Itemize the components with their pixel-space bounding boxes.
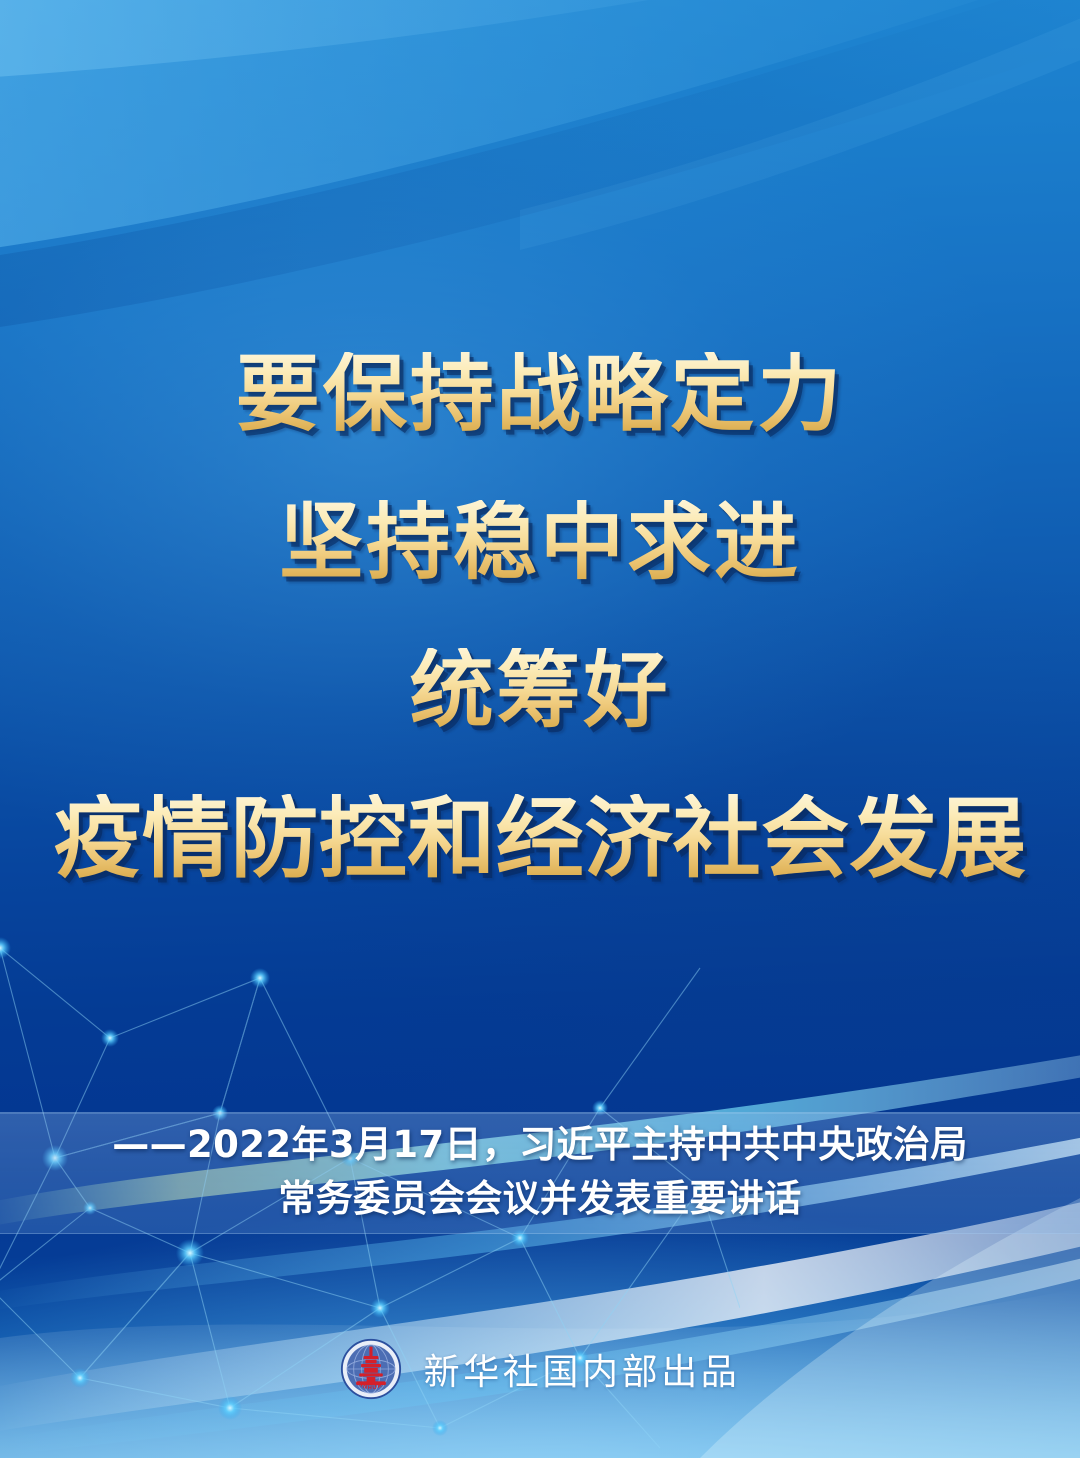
headline-line-2: 坚持稳中求进 — [0, 500, 1080, 584]
attribution-line-1: ——2022年3月17日，习近平主持中共中央政治局 — [0, 1118, 1080, 1172]
attribution-text: ——2022年3月17日，习近平主持中共中央政治局 常务委员会会议并发表重要讲话 — [0, 1118, 1080, 1226]
footer-credit-row: XINHUA 新华社国内部出品 — [0, 1338, 1080, 1400]
headline-line-3: 统筹好 — [0, 648, 1080, 732]
headline-line-1: 要保持战略定力 — [0, 352, 1080, 436]
poster-canvas: 要保持战略定力 坚持稳中求进 统筹好 疫情防控和经济社会发展 ——2022年3月… — [0, 0, 1080, 1458]
xinhua-emblem-icon: XINHUA — [340, 1338, 402, 1400]
headline-line-4: 疫情防控和经济社会发展 — [0, 794, 1080, 882]
footer-credit-label: 新华社国内部出品 — [424, 1343, 741, 1395]
headline-block: 要保持战略定力 坚持稳中求进 统筹好 疫情防控和经济社会发展 — [0, 352, 1080, 882]
attribution-line-2: 常务委员会会议并发表重要讲话 — [0, 1172, 1080, 1226]
